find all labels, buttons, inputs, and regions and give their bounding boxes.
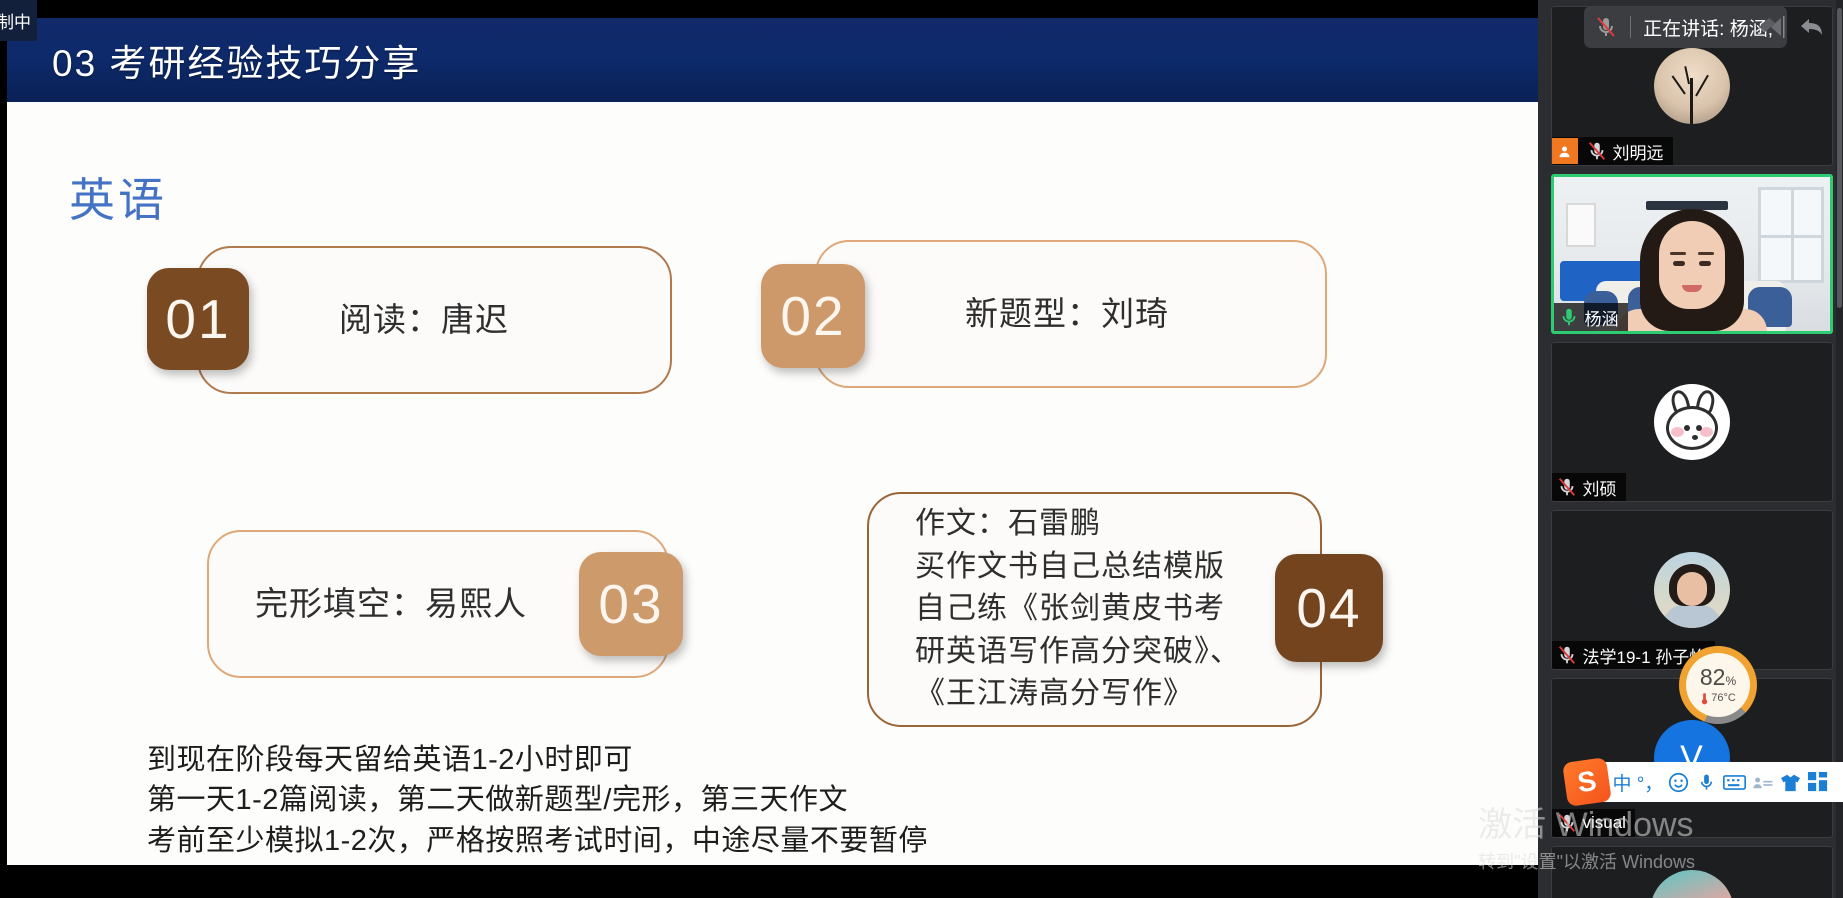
contact-card-icon[interactable] xyxy=(1749,767,1775,797)
participant-tile-active-speaker[interactable]: 杨涵 xyxy=(1551,174,1833,334)
shared-screen-area: 03 考研经验技巧分享 英语 阅读：唐迟 01 新题型：刘琦 02 完形 xyxy=(0,0,1538,898)
cpu-gauge-inner: 82% 76°C xyxy=(1686,653,1750,717)
cpu-monitor-widget[interactable]: 82% 76°C xyxy=(1679,646,1757,724)
sogou-logo-icon[interactable]: S xyxy=(1562,757,1612,807)
slide-title: 03 考研经验技巧分享 xyxy=(52,33,421,87)
mic-muted-icon xyxy=(1556,812,1578,834)
person-silhouette xyxy=(1633,209,1751,331)
presentation-slide: 03 考研经验技巧分享 英语 阅读：唐迟 01 新题型：刘琦 02 完形 xyxy=(7,18,1538,865)
screen-root: 03 考研经验技巧分享 英语 阅读：唐迟 01 新题型：刘琦 02 完形 xyxy=(0,0,1843,898)
avatar xyxy=(1654,48,1730,124)
participant-nameplate: visual xyxy=(1552,809,1635,837)
restore-arrow-icon[interactable] xyxy=(1797,14,1827,40)
more-grid-icon[interactable] xyxy=(1805,767,1831,797)
subject-heading: 英语 xyxy=(69,164,167,230)
topic-card-01-text: 阅读：唐迟 xyxy=(339,298,509,342)
avatar xyxy=(1654,384,1730,460)
avatar xyxy=(1650,870,1734,898)
now-speaking-text: 正在讲话: 杨涵; xyxy=(1643,14,1773,41)
banner-controls xyxy=(1755,6,1835,48)
divider xyxy=(1630,16,1631,38)
chinese-mode-icon[interactable]: 中 xyxy=(1609,767,1635,797)
mic-muted-icon xyxy=(1586,140,1608,162)
topic-card-01-body: 阅读：唐迟 xyxy=(197,246,672,394)
avatar-image-bunny xyxy=(1654,384,1730,460)
collapse-chevrons-icon[interactable] xyxy=(1755,14,1795,40)
participant-name: 杨涵 xyxy=(1585,305,1619,330)
participant-nameplate: 刘明远 xyxy=(1552,137,1673,165)
participant-tile[interactable]: 刘硕 xyxy=(1551,342,1833,502)
rail-scrollbar-thumb[interactable] xyxy=(1837,8,1842,308)
avatar-image-photo xyxy=(1654,552,1730,628)
recording-indicator: 制中 xyxy=(0,0,37,41)
punctuation-icon[interactable]: °， xyxy=(1637,767,1663,797)
mic-muted-icon xyxy=(1556,644,1578,666)
topic-card-01-number: 01 xyxy=(147,268,249,370)
emoji-icon[interactable] xyxy=(1665,767,1691,797)
host-icon xyxy=(1552,138,1578,164)
topic-card-02-number: 02 xyxy=(761,264,865,368)
topic-card-02-body: 新题型：刘琦 xyxy=(815,240,1327,388)
participant-name: 刘明远 xyxy=(1613,139,1664,164)
topic-card-03-text: 完形填空：易熙人 xyxy=(255,582,527,626)
cpu-percent: 82% xyxy=(1700,666,1736,689)
mic-active-icon xyxy=(1558,306,1580,328)
participant-tile-partial[interactable] xyxy=(1551,846,1833,898)
topic-card-04-text: 作文：石雷鹏 买作文书自己总结模版 自己练《张剑黄皮书考 研英语写作高分突破》、… xyxy=(915,503,1241,716)
participant-name: visual xyxy=(1583,813,1626,833)
slide-notes: 到现在阶段每天留给英语1-2小时即可 第一天1-2篇阅读，第二天做新题型/完形，… xyxy=(147,740,928,861)
cpu-temperature: 76°C xyxy=(1700,692,1736,705)
avatar-image-tree xyxy=(1654,48,1730,124)
thermometer-icon xyxy=(1700,692,1709,705)
topic-card-02-text: 新题型：刘琦 xyxy=(965,292,1169,336)
voice-input-icon[interactable] xyxy=(1693,767,1719,797)
mic-muted-icon xyxy=(1556,476,1578,498)
topic-card-04-number: 04 xyxy=(1275,554,1383,662)
participant-nameplate: 刘硕 xyxy=(1552,473,1626,501)
ime-toolbar[interactable]: S 中 °， xyxy=(1571,762,1843,802)
skin-shirt-icon[interactable] xyxy=(1777,767,1803,797)
mic-muted-icon xyxy=(1594,15,1618,39)
avatar xyxy=(1654,552,1730,628)
topic-card-03-number: 03 xyxy=(579,552,683,656)
participant-name: 刘硕 xyxy=(1583,475,1617,500)
soft-keyboard-icon[interactable] xyxy=(1721,767,1747,797)
slide-header-bar: 03 考研经验技巧分享 xyxy=(7,18,1538,102)
topic-card-04-body: 作文：石雷鹏 买作文书自己总结模版 自己练《张剑黄皮书考 研英语写作高分突破》、… xyxy=(867,492,1322,727)
participant-nameplate: 杨涵 xyxy=(1554,303,1628,331)
